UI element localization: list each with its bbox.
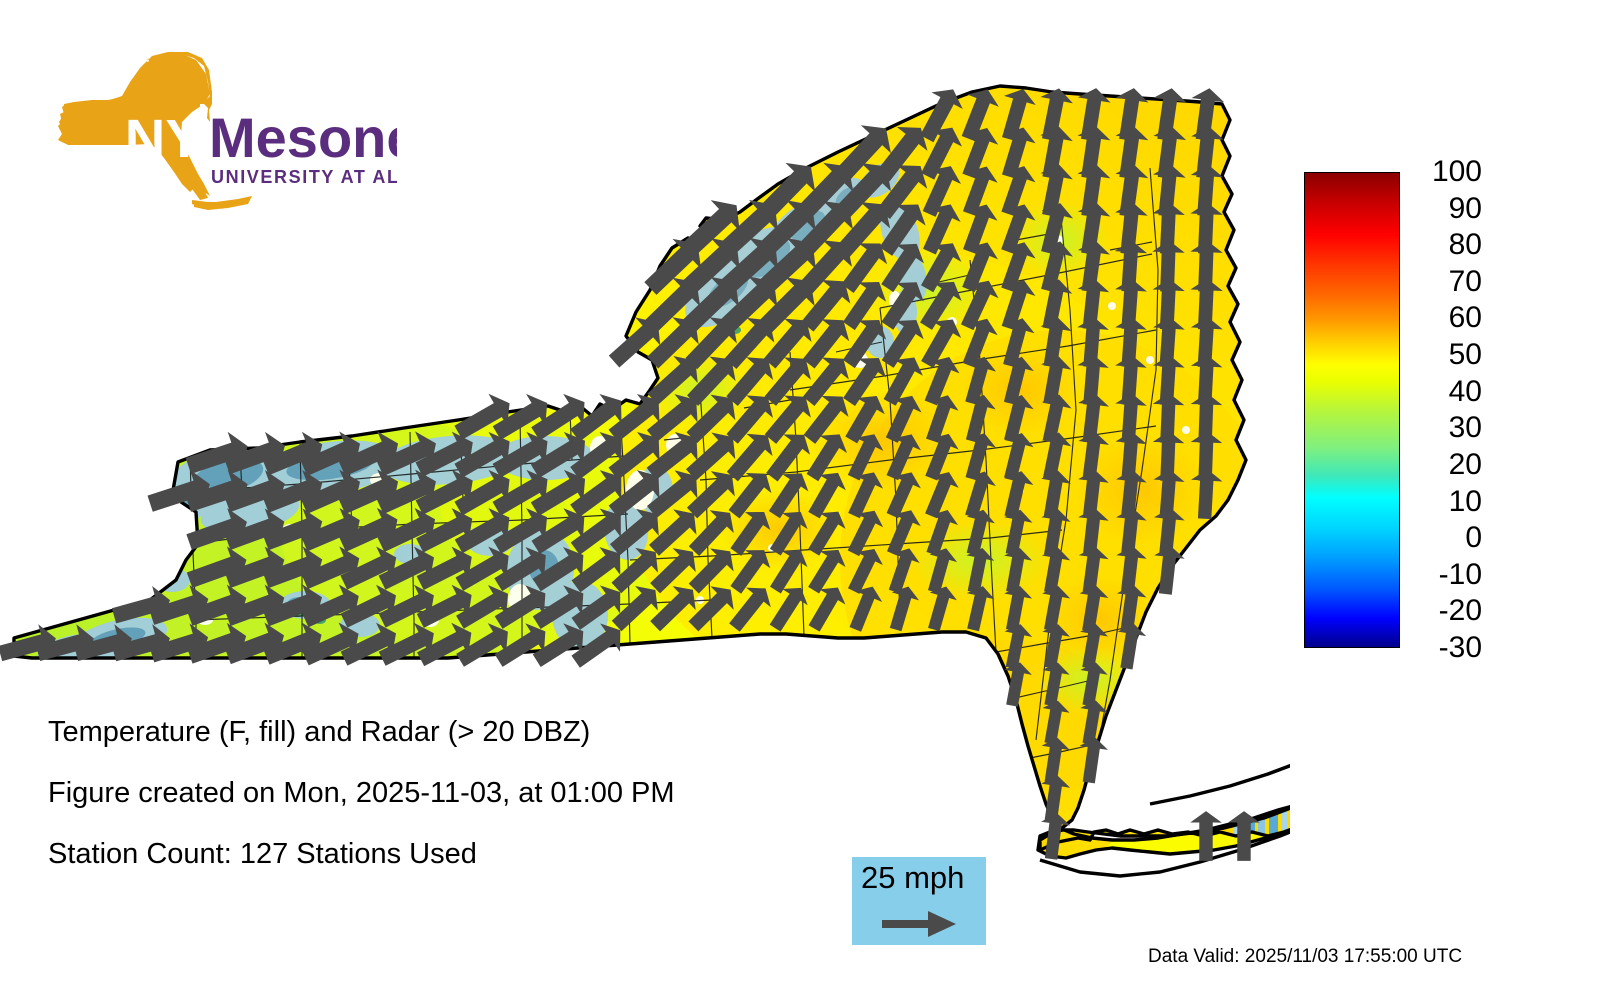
colorbar-tick-80: 80 [1449,230,1482,260]
colorbar-tick-90: 90 [1449,194,1482,224]
colorbar-tick-20: 20 [1449,450,1482,480]
caption-line-created: Figure created on Mon, 2025-11-03, at 01… [48,779,828,808]
caption-block: Temperature (F, fill) and Radar (> 20 DB… [48,718,828,901]
caption-line-stations: Station Count: 127 Stations Used [48,840,828,869]
wind-key-label: 25 mph [861,860,964,896]
colorbar-tick-60: 60 [1449,303,1482,333]
colorbar-tick-neg20: -20 [1439,596,1482,626]
colorbar-tick-50: 50 [1449,340,1482,370]
colorbar-tick-100: 100 [1432,157,1482,187]
temperature-colorbar [1304,172,1400,648]
data-valid-timestamp: Data Valid: 2025/11/03 17:55:00 UTC [1148,946,1462,968]
wind-arrow-icon [882,909,958,939]
colorbar-tick-labels: 1009080706050403020100-10-20-30 [1404,158,1524,668]
wind-speed-key: 25 mph [852,857,986,945]
colorbar-tick-40: 40 [1449,377,1482,407]
colorbar-tick-30: 30 [1449,413,1482,443]
colorbar-tick-70: 70 [1449,267,1482,297]
caption-line-title: Temperature (F, fill) and Radar (> 20 DB… [48,718,828,747]
colorbar-tick-0: 0 [1465,523,1482,553]
colorbar-tick-neg10: -10 [1439,560,1482,590]
colorbar-tick-10: 10 [1449,487,1482,517]
colorbar-tick-neg30: -30 [1439,633,1482,663]
